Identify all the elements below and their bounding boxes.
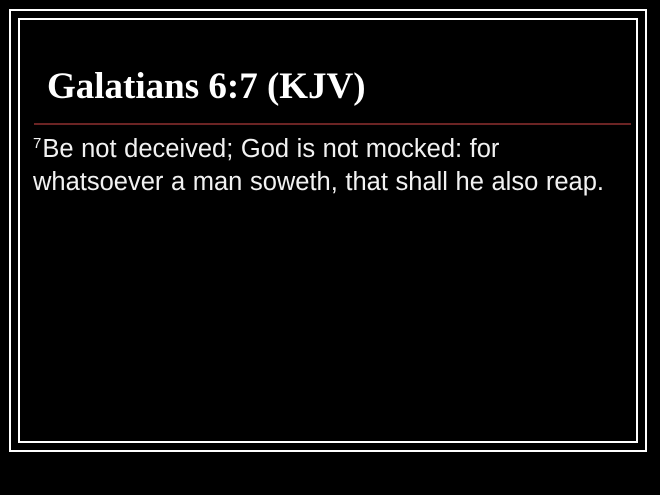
- scripture-body: 7Be not deceived; God is not mocked: for…: [33, 133, 631, 199]
- title-divider-rule: [34, 123, 631, 125]
- verse-number: 7: [33, 135, 41, 152]
- slide-content-area: Galatians 6:7 (KJV) 7Be not deceived; Go…: [20, 20, 636, 441]
- presentation-slide: Galatians 6:7 (KJV) 7Be not deceived; Go…: [0, 0, 660, 495]
- verse-text: Be not deceived; God is not mocked: for …: [33, 135, 604, 196]
- slide-outer-border: Galatians 6:7 (KJV) 7Be not deceived; Go…: [9, 9, 647, 452]
- slide-title: Galatians 6:7 (KJV): [47, 66, 366, 108]
- slide-inner-border: Galatians 6:7 (KJV) 7Be not deceived; Go…: [18, 18, 638, 443]
